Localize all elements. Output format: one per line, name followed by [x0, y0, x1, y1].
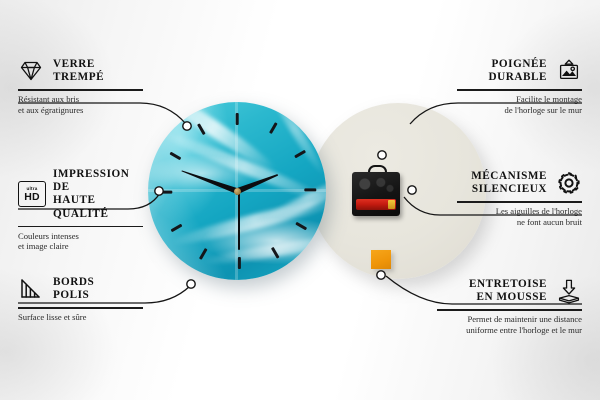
gear-icon — [556, 170, 582, 196]
ultra-hd-badge-icon: ultra HD — [18, 181, 44, 207]
callout-title: MÉCANISMESILENCIEUX — [471, 170, 547, 196]
callout-heading-row: MÉCANISMESILENCIEUX — [457, 170, 582, 196]
callout-divider — [18, 307, 143, 308]
callout-heading-row: ENTRETOISEEN MOUSSE — [437, 278, 582, 304]
mechanism-surface-detail — [356, 176, 396, 196]
callout-title: VERRETREMPÉ — [53, 58, 104, 84]
callout-divider — [18, 89, 143, 90]
callout-description: Les aiguilles de l'horlogene font aucun … — [457, 206, 582, 227]
callout-heading-row: POIGNÉEDURABLE — [457, 58, 582, 84]
battery — [356, 199, 396, 210]
callout-entretoise-en-mousse[interactable]: ENTRETOISEEN MOUSSE Permet de maintenir … — [437, 278, 582, 335]
foam-spacer — [371, 250, 391, 269]
callout-title: POIGNÉEDURABLE — [488, 58, 547, 84]
callout-divider — [18, 226, 143, 227]
callout-mecanisme-silencieux[interactable]: MÉCANISMESILENCIEUX Les aiguilles de l'h… — [457, 170, 582, 227]
clock-face — [148, 102, 326, 280]
hd-badge-large-label: HD — [24, 192, 40, 203]
feather-streak — [202, 232, 326, 267]
infographic-canvas: VERRETREMPÉ Résistant aux briset aux égr… — [0, 0, 600, 400]
callout-divider — [437, 309, 582, 310]
callout-heading-row: ultra HD IMPRESSION DEHAUTE QUALITÉ — [18, 168, 143, 221]
callout-heading-row: VERRETREMPÉ — [18, 58, 143, 84]
polished-edge-icon — [18, 276, 44, 302]
callout-verre-trempe[interactable]: VERRETREMPÉ Résistant aux briset aux égr… — [18, 58, 143, 115]
diamond-icon — [18, 58, 44, 84]
clock-second-hand — [238, 190, 240, 250]
callout-description: Surface lisse et sûre — [18, 312, 143, 322]
callout-description: Couleurs intenseset image claire — [18, 231, 143, 252]
callout-title: IMPRESSION DEHAUTE QUALITÉ — [53, 168, 143, 221]
callout-divider — [457, 89, 582, 90]
callout-description: Facilite le montagede l'horloge sur le m… — [457, 94, 582, 115]
callout-title: BORDSPOLIS — [53, 276, 94, 302]
callout-impression-haute-qualite[interactable]: ultra HD IMPRESSION DEHAUTE QUALITÉ Coul… — [18, 168, 143, 251]
clock-center-pivot — [234, 188, 241, 195]
callout-description: Permet de maintenir une distanceuniforme… — [437, 314, 582, 335]
press-down-pad-icon — [556, 278, 582, 304]
callout-bords-polis[interactable]: BORDSPOLIS Surface lisse et sûre — [18, 276, 143, 323]
callout-poignee-durable[interactable]: POIGNÉEDURABLE Facilite le montagede l'h… — [457, 58, 582, 115]
callout-heading-row: BORDSPOLIS — [18, 276, 143, 302]
hd-badge: ultra HD — [18, 181, 46, 207]
hanging-picture-icon — [556, 58, 582, 84]
callout-divider — [457, 201, 582, 202]
callout-title: ENTRETOISEEN MOUSSE — [469, 278, 547, 304]
callout-description: Résistant aux briset aux égratignures — [18, 94, 143, 115]
